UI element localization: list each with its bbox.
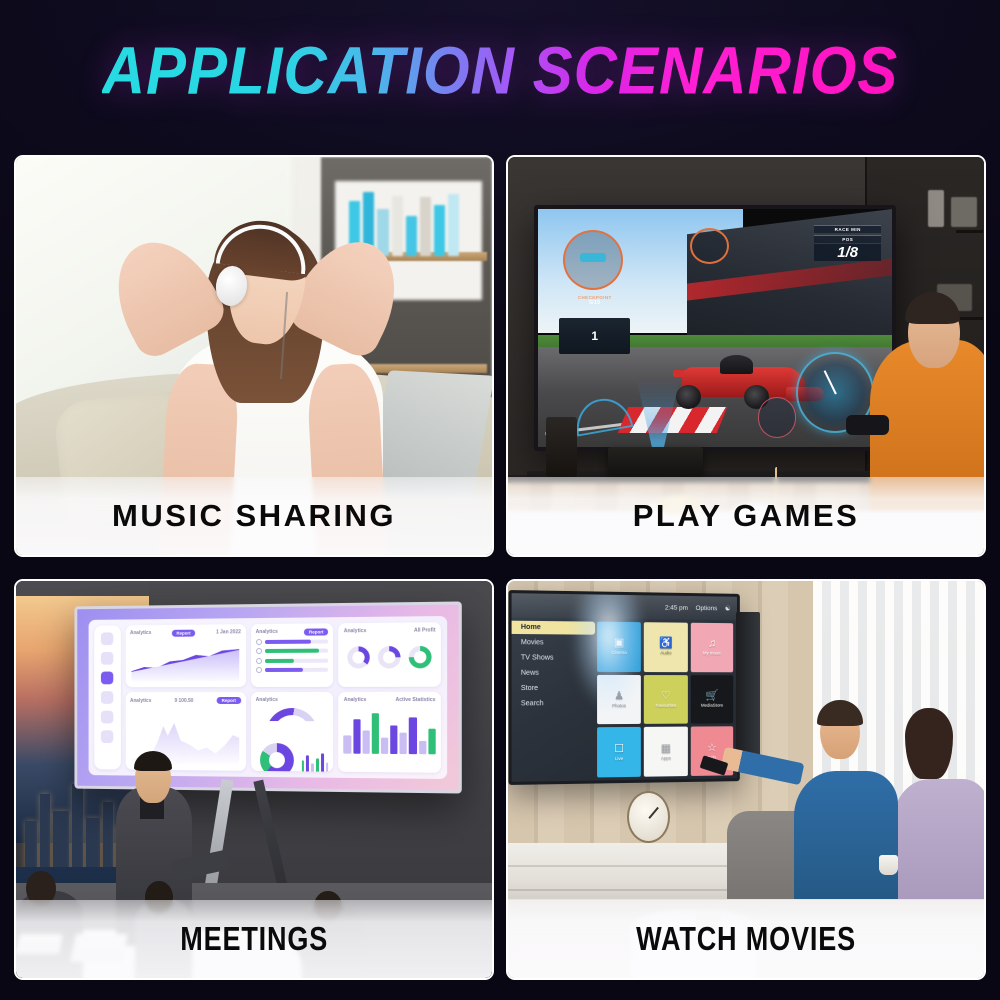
card-caption-bar: MUSIC SHARING	[16, 477, 492, 555]
donut-chart	[260, 743, 294, 772]
presentation-display: Analytics Report 1 Jan 2022 Analytics Re…	[75, 602, 463, 794]
tv-status-bar: 2:45 pm Options ☯	[512, 594, 738, 621]
scenario-card-play-games[interactable]: CHECKPOINT 5/10 1 RACE MIN POS 1/8	[506, 155, 986, 557]
tv-options-button[interactable]: Options	[696, 605, 718, 612]
cart-icon: 🛒	[706, 691, 719, 702]
dashboard-panel-area-chart: Analytics Report 1 Jan 2022	[126, 624, 247, 687]
grid-icon: ▦	[661, 743, 671, 754]
card-caption-music-sharing: MUSIC SHARING	[112, 498, 396, 534]
heart-icon: ♡	[661, 691, 671, 702]
tv-menu-item-search[interactable]: Search	[512, 697, 595, 710]
signal-icon: ☯	[725, 605, 731, 613]
home-icon[interactable]	[101, 652, 113, 665]
tv-tile-cinema[interactable]: ▣ Cinema	[597, 622, 641, 672]
card-caption-bar: WATCH MOVIES	[508, 900, 984, 978]
tv-tile-photos[interactable]: ♟ Photos	[597, 675, 641, 725]
tv-tile-apps[interactable]: ▦ Apps	[644, 727, 688, 777]
film-icon: ▣	[614, 639, 624, 650]
dashboard-panel-rings: Analytics All Profit	[339, 622, 441, 687]
card-caption-meetings: MEETINGS	[180, 920, 328, 958]
tv-tile-my-music[interactable]: ♫ My music	[691, 623, 734, 672]
scenario-card-music-sharing[interactable]: MUSIC SHARING	[14, 155, 494, 557]
dashboard-panel-progress: Analytics Report	[251, 623, 334, 687]
application-scenarios-page: APPLICATION SCENARIOS	[0, 0, 1000, 1000]
card-caption-watch-movies: WATCH MOVIES	[636, 920, 856, 958]
ring-chart	[409, 646, 432, 669]
speaker	[546, 417, 577, 477]
tv-icon: ☐	[615, 744, 625, 755]
tv-tile-grid: ▣ Cinema ♿ Audio ♫ My music	[595, 619, 737, 781]
tv-menu-item-movies[interactable]: Movies	[512, 636, 595, 650]
card-caption-bar: MEETINGS	[16, 900, 492, 978]
team-icon[interactable]	[101, 711, 113, 724]
hud-lap-label: RACE MIN	[814, 225, 881, 233]
hud-billboard: 1	[559, 318, 630, 354]
chart-icon[interactable]	[101, 672, 113, 685]
game-controller	[846, 415, 889, 435]
tv-interface: 2:45 pm Options ☯ Home Movies TV Shows N…	[512, 594, 738, 783]
ring-chart	[348, 646, 370, 668]
music-note-icon: ♫	[708, 639, 716, 650]
page-header: APPLICATION SCENARIOS	[0, 0, 1000, 140]
tv-tile-mediastore[interactable]: 🛒 MediaStore	[691, 675, 734, 724]
tv-tile-live[interactable]: ☐ Live	[597, 728, 641, 778]
scenario-card-meetings[interactable]: Analytics Report 1 Jan 2022 Analytics Re…	[14, 579, 494, 981]
gauge-chart	[266, 708, 318, 734]
hud-car-badge-icon	[563, 230, 623, 290]
soundbar	[736, 612, 760, 763]
tv-menu-item-news[interactable]: News	[512, 667, 595, 680]
card-caption-play-games: PLAY GAMES	[633, 498, 860, 534]
hud-checkpoint: CHECKPOINT 5/10	[556, 295, 634, 316]
dashboard-panel-bars: Analytics Active Statistics	[339, 692, 441, 773]
tv-menu: Home Movies TV Shows News Store Search	[512, 618, 595, 782]
settings-icon[interactable]	[101, 730, 113, 743]
mug	[879, 855, 898, 875]
scenario-grid: MUSIC SHARING	[14, 155, 986, 980]
hud-pos-value: 1/8	[814, 244, 881, 261]
hud-small-gauge-icon	[758, 397, 797, 438]
card-caption-bar: PLAY GAMES	[508, 477, 984, 555]
projector-screen: CHECKPOINT 5/10 1 RACE MIN POS 1/8	[534, 205, 896, 451]
message-icon[interactable]	[101, 691, 113, 704]
scenario-card-watch-movies[interactable]: 2:45 pm Options ☯ Home Movies TV Shows N…	[506, 579, 986, 981]
ring-chart	[378, 646, 401, 669]
tv-menu-item-store[interactable]: Store	[512, 682, 595, 695]
wall-clock-icon	[627, 791, 670, 843]
tv-tile-favourites[interactable]: ♡ Favourites	[644, 675, 688, 724]
people-icon: ♟	[615, 691, 625, 702]
tv-menu-item-tv-shows[interactable]: TV Shows	[512, 652, 595, 666]
hud-pos-label: POS	[814, 235, 881, 243]
dashboard-sidebar[interactable]	[94, 626, 121, 770]
dashboard-panel-gauge: Analytics	[251, 692, 334, 772]
hud-position-panel: RACE MIN POS 1/8	[814, 225, 881, 261]
hud-top-marker-icon	[690, 228, 729, 264]
tv-menu-item-home[interactable]: Home	[512, 621, 595, 635]
star-icon: ☆	[708, 743, 718, 754]
user-icon[interactable]	[101, 633, 113, 646]
tv-clock: 2:45 pm	[665, 604, 688, 611]
headphones-icon: ♿	[660, 639, 673, 650]
page-title: APPLICATION SCENARIOS	[102, 31, 899, 108]
tv-tile-audio[interactable]: ♿ Audio	[644, 623, 688, 673]
projector-device	[608, 447, 703, 477]
